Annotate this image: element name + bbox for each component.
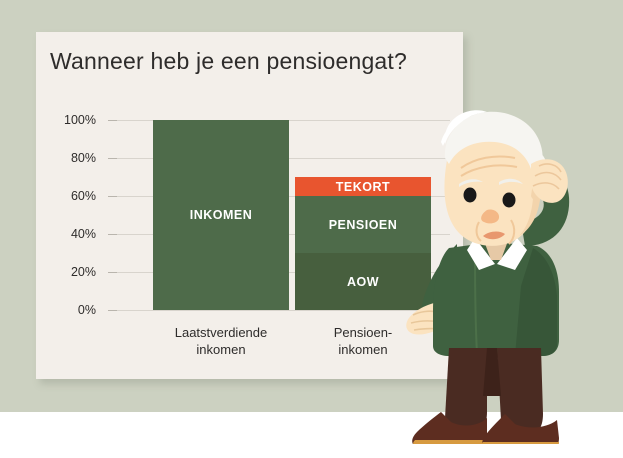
screenshot-stage: Wanneer heb je een pensioengat? 0%20%40%… bbox=[0, 0, 623, 458]
elderly-man-illustration bbox=[383, 96, 623, 444]
y-axis-tick bbox=[108, 310, 117, 311]
bar-segment: INKOMEN bbox=[153, 120, 289, 310]
chart-bar: INKOMEN bbox=[153, 120, 289, 310]
y-axis-tick-label: 20% bbox=[71, 265, 96, 279]
bar-segment-label: AOW bbox=[347, 275, 379, 289]
y-axis-tick-label: 100% bbox=[64, 113, 96, 127]
y-axis-tick bbox=[108, 272, 117, 273]
y-axis-tick bbox=[108, 158, 117, 159]
y-axis-tick bbox=[108, 120, 117, 121]
y-axis-tick bbox=[108, 196, 117, 197]
y-axis-tick-label: 0% bbox=[78, 303, 96, 317]
y-axis-tick bbox=[108, 234, 117, 235]
bar-segment-label: INKOMEN bbox=[190, 208, 253, 222]
y-axis-tick-label: 80% bbox=[71, 151, 96, 165]
legs bbox=[445, 348, 543, 436]
y-axis-tick-label: 60% bbox=[71, 189, 96, 203]
y-axis-labels: 0%20%40%60%80%100% bbox=[44, 120, 96, 310]
y-axis-tick-label: 40% bbox=[71, 227, 96, 241]
